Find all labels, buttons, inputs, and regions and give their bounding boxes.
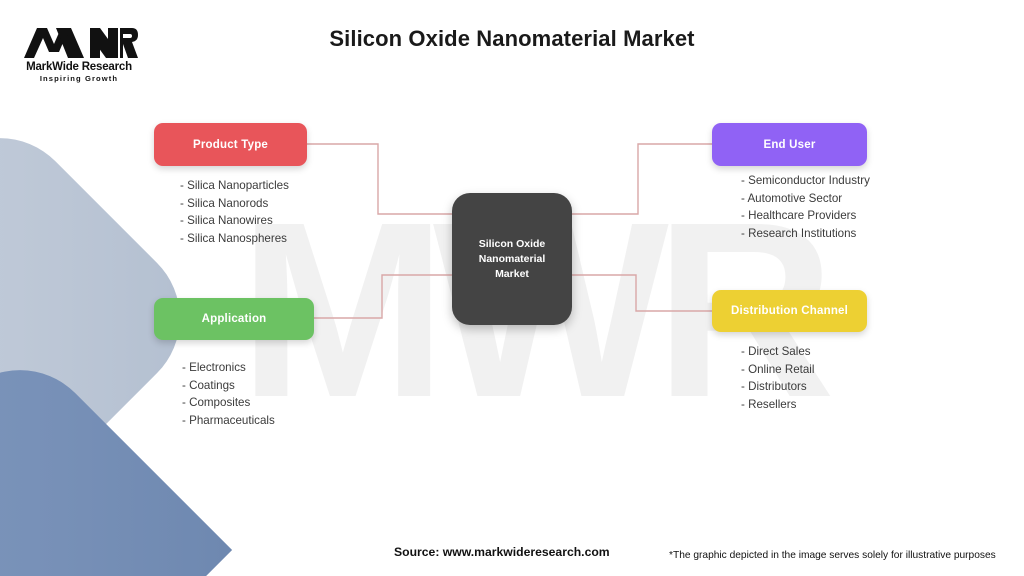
list-distribution-channel: - Direct Sales - Online Retail - Distrib… (741, 343, 814, 413)
list-item: - Composites (182, 394, 275, 412)
node-product-type-label: Product Type (193, 139, 268, 151)
list-item: - Silica Nanowires (180, 212, 289, 230)
list-item: - Coatings (182, 377, 275, 395)
source-label: Source: www.markwideresearch.com (394, 545, 610, 559)
list-item: - Direct Sales (741, 343, 814, 361)
list-item: - Online Retail (741, 361, 814, 379)
node-center-market[interactable]: Silicon Oxide Nanomaterial Market (452, 193, 572, 325)
list-end-user: - Semiconductor Industry - Automotive Se… (741, 172, 870, 242)
brand-tagline: Inspiring Growth (20, 74, 138, 83)
list-item: - Silica Nanorods (180, 195, 289, 213)
list-item: - Resellers (741, 396, 814, 414)
list-item: - Semiconductor Industry (741, 172, 870, 190)
infographic-canvas: MWR MarkWide Research Inspiring Growth S… (0, 0, 1024, 576)
list-item: - Research Institutions (741, 225, 870, 243)
page-title: Silicon Oxide Nanomaterial Market (0, 26, 1024, 52)
node-center-line3: Market (495, 268, 529, 280)
list-item: - Silica Nanoparticles (180, 177, 289, 195)
disclaimer-label: *The graphic depicted in the image serve… (669, 550, 996, 561)
node-center-line1: Silicon Oxide (479, 238, 546, 250)
list-product-type: - Silica Nanoparticles - Silica Nanorods… (180, 177, 289, 247)
list-item: - Distributors (741, 378, 814, 396)
node-end-user[interactable]: End User (712, 123, 867, 166)
list-item: - Automotive Sector (741, 190, 870, 208)
node-center-line2: Nanomaterial (479, 253, 546, 265)
list-item: - Silica Nanospheres (180, 230, 289, 248)
node-center-label: Silicon Oxide Nanomaterial Market (479, 237, 546, 282)
node-distribution-channel-label: Distribution Channel (731, 305, 848, 317)
list-item: - Electronics (182, 359, 275, 377)
node-application-label: Application (202, 313, 267, 325)
node-distribution-channel[interactable]: Distribution Channel (712, 290, 867, 332)
list-item: - Healthcare Providers (741, 207, 870, 225)
node-end-user-label: End User (763, 139, 815, 151)
list-item: - Pharmaceuticals (182, 412, 275, 430)
node-application[interactable]: Application (154, 298, 314, 340)
brand-name: MarkWide Research (20, 61, 138, 73)
list-application: - Electronics - Coatings - Composites - … (182, 359, 275, 429)
node-product-type[interactable]: Product Type (154, 123, 307, 166)
